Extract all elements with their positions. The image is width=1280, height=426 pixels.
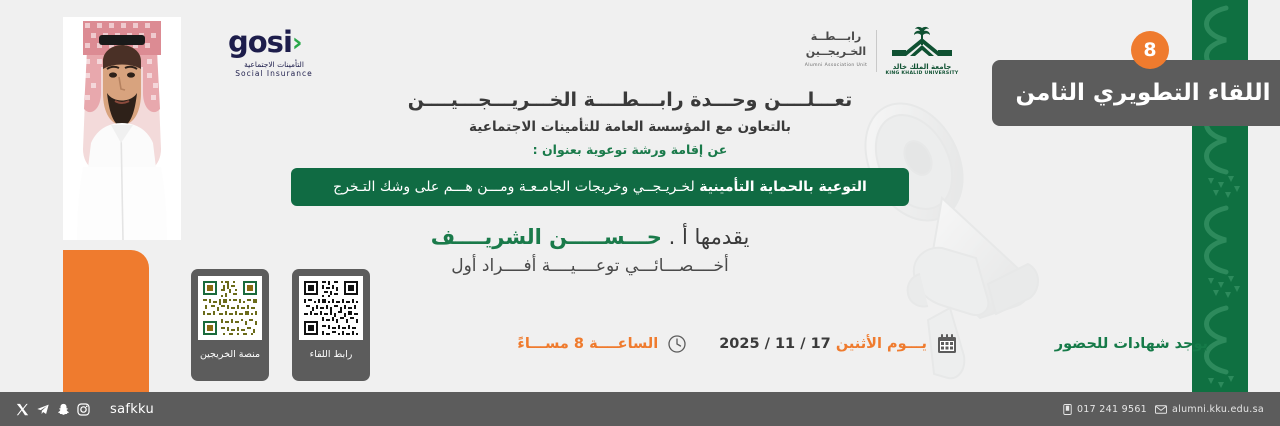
event-date-value: 17 / 11 / 2025 [719,336,831,352]
x-twitter-icon[interactable] [16,403,29,416]
event-title-plate: اللقاء التطويري الثامن [992,60,1280,126]
event-title: اللقاء التطويري الثامن [1015,80,1270,106]
gosi-subtitle: التأمينات الاجتماعية Social Insurance [228,60,320,78]
decorative-green-strip [1192,0,1248,392]
event-time: الساعــــة 8 مســـاءً [517,336,658,352]
qr-code-meeting-link[interactable] [299,276,363,340]
instagram-icon[interactable] [77,403,90,416]
alumni-logo-line1: رابـــطــة [800,30,872,45]
email-contact: alumni.kku.edu.sa [1155,404,1264,415]
footer-orange-accent [63,388,149,392]
workshop-title-banner: التوعية بالحماية التأمينية لخـريـجــي وخ… [291,168,909,206]
clock-icon [667,334,687,354]
event-date: يـــوم الأثنين 17 / 11 / 2025 [719,336,927,352]
social-handle: safkku [110,402,154,417]
logo-divider [876,30,877,72]
gosi-subtitle-arabic: التأمينات الاجتماعية [228,60,320,69]
event-day-label: يـــوم الأثنين [836,336,927,352]
telegram-icon[interactable] [36,403,50,416]
speaker-intro-label: يقدمها أ . [662,225,749,249]
workshop-title-bold: التوعية بالحماية التأمينية [699,179,867,195]
announcement-headline: تعـــلــــن وحـــدة رابـــطــــة الخـــر… [360,88,900,160]
kku-name-english: KING KHALID UNIVERSITY [884,71,960,76]
event-datetime-row: يـــوم الأثنين 17 / 11 / 2025 الساعــــة… [517,333,958,355]
headline-line-1: تعـــلــــن وحـــدة رابـــطــــة الخـــر… [360,88,900,114]
speaker-portrait [63,17,181,240]
qr-card-alumni-platform[interactable]: منصة الخريجين [191,269,269,381]
social-links: safkku [16,402,154,417]
gosi-wordmark: gosi › [228,28,320,57]
headline-line-2: بالتعاون مع المؤسسة العامة للتأمينات الا… [360,117,900,137]
kku-name-arabic: جامعة الملك خالد [884,63,960,71]
qr-label-alumni-platform: منصة الخريجين [200,349,260,360]
email-icon [1155,405,1167,414]
gosi-logo: gosi › التأمينات الاجتماعية Social Insur… [228,28,320,80]
phone-contact: 017 241 9561 [1063,404,1147,415]
edition-number-badge: 8 [1131,31,1169,69]
qr-card-meeting-link[interactable]: رابط اللقاء [292,269,370,381]
qr-code-alumni-platform[interactable] [198,276,262,340]
contact-info: 017 241 9561 alumni.kku.edu.sa [1063,404,1264,415]
gosi-arrow-icon: › [292,30,302,56]
certificates-note: يوجد شهادات للحضور [1055,336,1208,352]
headline-line-3: عن إقامة ورشة توعوية بعنوان : [360,141,900,160]
orange-accent-block [63,250,149,392]
speaker-job-title: أخــــصـــائـــي توعــــيــــة أفــــراد… [380,254,800,280]
event-poster: 8 اللقاء التطويري الثامن [0,0,1280,426]
speaker-name: حـــســـــن الشريــــف [431,225,662,249]
workshop-title-light: لخـريـجــي وخريجات الجامـعـة ومـــن هـــ… [333,179,695,195]
kku-logo: جامعة الملك خالد KING KHALID UNIVERSITY [884,26,960,78]
phone-number: 017 241 9561 [1077,404,1147,415]
snapchat-icon[interactable] [57,403,70,416]
alumni-logo-line2: الخـريجــين [800,45,872,60]
footer-bar: safkku 017 241 9561 alumni.kku.edu.sa [0,392,1280,426]
gosi-subtitle-english: Social Insurance [228,69,320,78]
edition-number: 8 [1143,39,1156,61]
kku-emblem-icon [884,26,960,58]
alumni-logo-english: Alumni Association Unit [800,63,872,68]
workshop-title: التوعية بالحماية التأمينية لخـريـجــي وخ… [333,180,867,194]
alumni-association-logo: رابـــطــة الخـريجــين Alumni Associatio… [800,30,872,78]
gosi-wordmark-text: gosi [228,28,292,57]
speaker-name-line: يقدمها أ . حـــســـــن الشريــــف [380,222,800,252]
phone-icon [1063,404,1072,415]
speaker-block: يقدمها أ . حـــســـــن الشريــــف أخــــ… [380,222,800,280]
calendar-icon [936,333,958,355]
qr-label-meeting-link: رابط اللقاء [310,349,353,360]
email-address: alumni.kku.edu.sa [1172,404,1264,415]
